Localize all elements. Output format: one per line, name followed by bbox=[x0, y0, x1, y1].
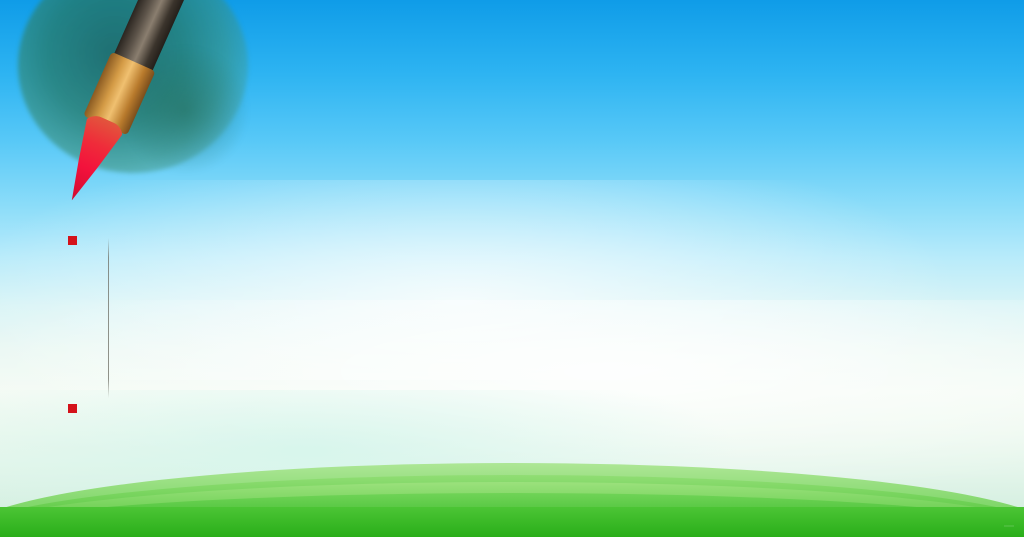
peony-flower-decoration bbox=[859, 190, 1024, 350]
image-id-label bbox=[1004, 525, 1014, 527]
cloud-wash-middle bbox=[0, 300, 1024, 480]
poster-canvas bbox=[0, 0, 1024, 537]
cloud-wash-upper bbox=[0, 180, 1024, 380]
cloud-wash-lower bbox=[0, 390, 1024, 510]
seal-square-bottom bbox=[68, 404, 77, 413]
seal-square-top bbox=[68, 236, 77, 245]
vertical-divider bbox=[108, 238, 109, 398]
watermark-bar bbox=[0, 497, 1024, 537]
